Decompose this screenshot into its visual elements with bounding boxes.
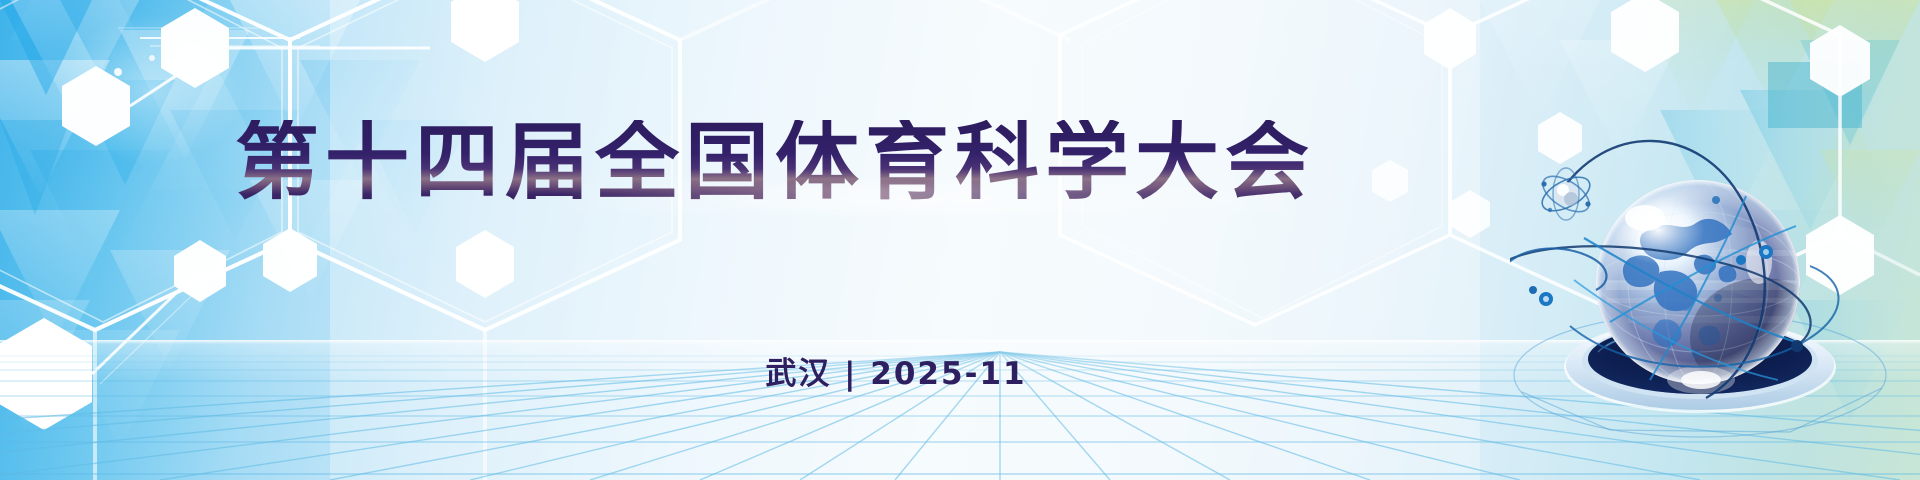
- conference-banner: 第十四届全国体育科学大会 武汉 | 2025-11: [0, 0, 1920, 480]
- globe-graphic: [1510, 130, 1910, 480]
